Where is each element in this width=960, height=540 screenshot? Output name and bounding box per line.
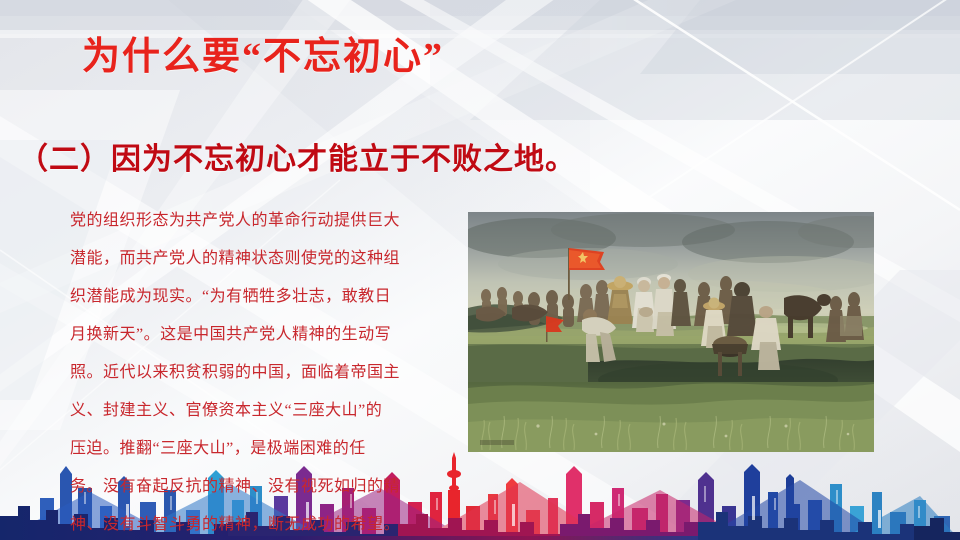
page-title: 为什么要“不忘初心” bbox=[82, 36, 444, 80]
body-line: 神、没有斗智斗勇的精神，断无成功的希望。 bbox=[70, 506, 450, 540]
body-line: 压迫。推翻“三座大山”，是极端困难的任 bbox=[70, 430, 450, 468]
section-subtitle: （二）因为不忘初心才能立于不败之地。 bbox=[18, 141, 576, 179]
body-line: 照。近代以来积贫积弱的中国，面临着帝国主 bbox=[70, 354, 450, 392]
body-line: 月换新天”。这是中国共产党人精神的生动写 bbox=[70, 316, 450, 354]
body-line: 潜能，而共产党人的精神状态则使党的这种组 bbox=[70, 240, 450, 278]
body-line: 党的组织形态为共产党人的革命行动提供巨大 bbox=[70, 202, 450, 240]
body-line: 义、封建主义、官僚资本主义“三座大山”的 bbox=[70, 392, 450, 430]
painting-illustration bbox=[468, 212, 874, 452]
body-line: 务。没有奋起反抗的精神、没有视死如归的精 bbox=[70, 468, 450, 506]
body-paragraph: 党的组织形态为共产党人的革命行动提供巨大 潜能，而共产党人的精神状态则使党的这种… bbox=[70, 202, 450, 540]
slide-canvas: 为什么要“不忘初心” （二）因为不忘初心才能立于不败之地。 党的组织形态为共产党… bbox=[0, 0, 960, 540]
red-army-grassland-painting bbox=[468, 212, 874, 452]
body-line: 织潜能成为现实。“为有牺牲多壮志，敢教日 bbox=[70, 278, 450, 316]
